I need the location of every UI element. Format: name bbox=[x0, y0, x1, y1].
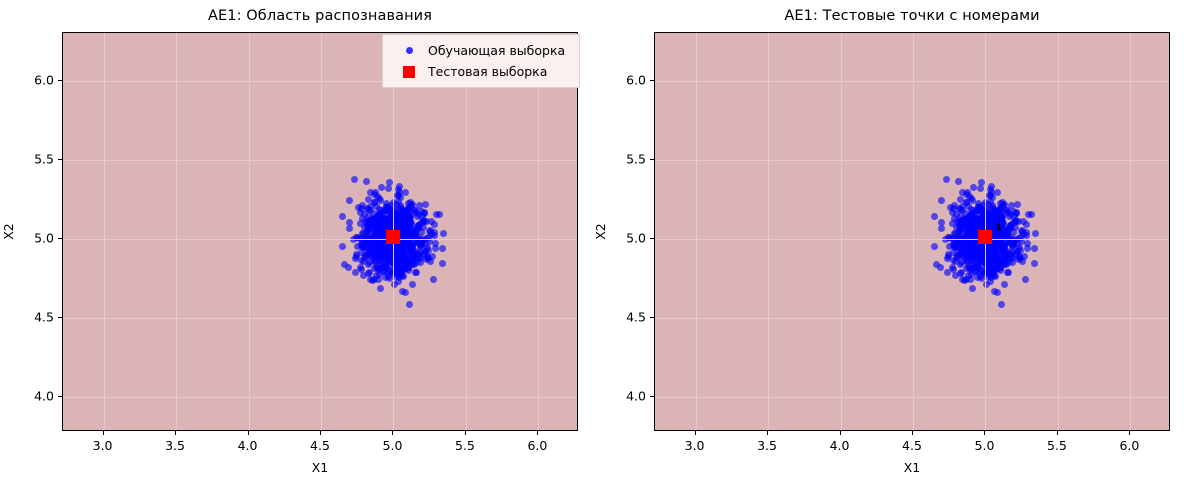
train-point bbox=[395, 192, 402, 199]
train-point bbox=[993, 265, 1000, 272]
train-point bbox=[380, 231, 387, 238]
train-point bbox=[374, 253, 381, 260]
train-point bbox=[376, 231, 383, 238]
train-point bbox=[988, 216, 995, 223]
train-point bbox=[995, 214, 1002, 221]
train-point bbox=[969, 265, 976, 272]
train-point bbox=[422, 248, 429, 255]
train-point bbox=[389, 224, 396, 231]
train-point bbox=[399, 261, 406, 268]
train-point bbox=[931, 243, 938, 250]
train-point bbox=[990, 270, 997, 277]
train-point bbox=[423, 256, 430, 263]
train-point bbox=[1006, 255, 1013, 262]
train-point bbox=[353, 251, 360, 258]
train-point bbox=[384, 250, 391, 257]
train-point bbox=[397, 254, 404, 261]
train-point bbox=[978, 231, 985, 238]
train-point bbox=[394, 213, 401, 220]
train-point bbox=[981, 222, 988, 229]
train-point bbox=[378, 253, 385, 260]
train-point bbox=[1017, 255, 1024, 262]
train-point bbox=[402, 225, 409, 232]
train-point bbox=[963, 265, 970, 272]
train-point bbox=[398, 232, 405, 239]
train-point bbox=[997, 257, 1004, 264]
train-point bbox=[981, 217, 988, 224]
train-point bbox=[359, 243, 366, 250]
train-point bbox=[401, 208, 408, 215]
train-point bbox=[957, 242, 964, 249]
train-point bbox=[383, 203, 390, 210]
train-point bbox=[427, 227, 434, 234]
train-point bbox=[404, 207, 411, 214]
train-point bbox=[956, 205, 963, 212]
train-point bbox=[396, 274, 403, 281]
train-point bbox=[395, 223, 402, 230]
train-point bbox=[378, 231, 385, 238]
train-point bbox=[986, 250, 993, 257]
train-point bbox=[384, 254, 391, 261]
panel-right-xaxis-label: X1 bbox=[654, 460, 1170, 475]
train-point bbox=[389, 225, 396, 232]
train-point bbox=[997, 229, 1004, 236]
train-point bbox=[966, 253, 973, 260]
train-point bbox=[1031, 245, 1038, 252]
train-point bbox=[994, 231, 1001, 238]
gridline-horizontal bbox=[655, 160, 1169, 161]
train-point bbox=[417, 243, 424, 250]
train-point bbox=[380, 220, 387, 227]
train-point bbox=[977, 204, 984, 211]
train-point bbox=[1032, 230, 1039, 237]
train-point bbox=[973, 231, 980, 238]
train-point bbox=[970, 219, 977, 226]
train-point bbox=[990, 232, 997, 239]
train-point bbox=[408, 249, 415, 256]
train-point bbox=[399, 247, 406, 254]
train-point bbox=[1002, 254, 1009, 261]
train-point bbox=[969, 223, 976, 230]
train-point bbox=[997, 223, 1004, 230]
train-point bbox=[418, 240, 425, 247]
train-point bbox=[964, 221, 971, 228]
train-point bbox=[1007, 234, 1014, 241]
train-point bbox=[968, 246, 975, 253]
train-point bbox=[394, 265, 401, 272]
train-point bbox=[399, 219, 406, 226]
train-point bbox=[371, 276, 378, 283]
train-point bbox=[978, 263, 985, 270]
train-point bbox=[401, 266, 408, 273]
train-point bbox=[366, 226, 373, 233]
train-point bbox=[411, 226, 418, 233]
train-point bbox=[1006, 213, 1013, 220]
train-point bbox=[403, 224, 410, 231]
train-point bbox=[975, 248, 982, 255]
train-point bbox=[992, 252, 999, 259]
train-point bbox=[394, 260, 401, 267]
train-point bbox=[997, 267, 1004, 274]
train-point bbox=[1014, 241, 1021, 248]
train-point bbox=[974, 228, 981, 235]
train-point bbox=[401, 230, 408, 237]
train-point bbox=[406, 203, 413, 210]
train-point bbox=[957, 196, 964, 203]
train-point bbox=[974, 230, 981, 237]
train-point bbox=[346, 219, 353, 226]
train-point bbox=[977, 224, 984, 231]
y-tick-label: 4.5 bbox=[604, 310, 646, 325]
train-point bbox=[412, 248, 419, 255]
train-point bbox=[372, 227, 379, 234]
train-point bbox=[987, 264, 994, 271]
train-point bbox=[418, 219, 425, 226]
train-point bbox=[981, 269, 988, 276]
train-point bbox=[385, 248, 392, 255]
train-point bbox=[394, 240, 401, 247]
train-point bbox=[380, 232, 387, 239]
train-point bbox=[428, 231, 435, 238]
train-point bbox=[976, 207, 983, 214]
train-point bbox=[974, 221, 981, 228]
train-point bbox=[971, 227, 978, 234]
train-point bbox=[397, 215, 404, 222]
panel-left-plot-area bbox=[62, 32, 578, 431]
train-point bbox=[981, 227, 988, 234]
train-point bbox=[976, 221, 983, 228]
train-point bbox=[366, 248, 373, 255]
train-point bbox=[396, 272, 403, 279]
train-point bbox=[991, 261, 998, 268]
train-point bbox=[394, 230, 401, 237]
train-point bbox=[989, 194, 996, 201]
train-point bbox=[988, 189, 995, 196]
train-point bbox=[968, 271, 975, 278]
panel-left-yaxis-label: X2 bbox=[1, 223, 16, 240]
legend-item-test: Тестовая выборка bbox=[390, 61, 570, 82]
train-point bbox=[978, 248, 985, 255]
train-point bbox=[389, 250, 396, 257]
train-point bbox=[1003, 231, 1010, 238]
train-point bbox=[938, 225, 945, 232]
train-point bbox=[963, 219, 970, 226]
train-point bbox=[964, 221, 971, 228]
train-point bbox=[974, 226, 981, 233]
train-point bbox=[373, 226, 380, 233]
train-point bbox=[378, 241, 385, 248]
train-point bbox=[427, 258, 434, 265]
train-point bbox=[425, 247, 432, 254]
train-point bbox=[998, 224, 1005, 231]
train-point bbox=[973, 223, 980, 230]
train-point bbox=[406, 231, 413, 238]
train-point bbox=[1016, 244, 1023, 251]
train-point bbox=[369, 216, 376, 223]
train-point bbox=[974, 263, 981, 270]
train-point bbox=[376, 218, 383, 225]
train-point bbox=[968, 246, 975, 253]
train-point bbox=[420, 224, 427, 231]
train-point bbox=[403, 247, 410, 254]
train-point bbox=[1008, 224, 1015, 231]
train-point bbox=[997, 258, 1004, 265]
train-point bbox=[1024, 245, 1031, 252]
train-point bbox=[963, 222, 970, 229]
train-point bbox=[990, 246, 997, 253]
train-point bbox=[1025, 211, 1032, 218]
train-point bbox=[990, 259, 997, 266]
train-point bbox=[986, 260, 993, 267]
train-point bbox=[966, 244, 973, 251]
train-point bbox=[395, 237, 402, 244]
train-point bbox=[395, 278, 402, 285]
train-point bbox=[383, 230, 390, 237]
train-point bbox=[383, 220, 390, 227]
train-point bbox=[381, 243, 388, 250]
train-point bbox=[983, 258, 990, 265]
train-point bbox=[409, 248, 416, 255]
train-point bbox=[981, 215, 988, 222]
train-point bbox=[978, 232, 985, 239]
gridline-vertical bbox=[466, 33, 467, 430]
x-tick-mark bbox=[1129, 431, 1130, 435]
train-point bbox=[966, 227, 973, 234]
train-point bbox=[967, 266, 974, 273]
train-point bbox=[970, 210, 977, 217]
train-point bbox=[989, 254, 996, 261]
train-point bbox=[954, 237, 961, 244]
train-point bbox=[384, 247, 391, 254]
train-point bbox=[958, 259, 965, 266]
train-point bbox=[377, 222, 384, 229]
train-point bbox=[365, 213, 372, 220]
train-point bbox=[999, 245, 1006, 252]
train-point bbox=[395, 220, 402, 227]
train-point bbox=[425, 255, 432, 262]
train-point bbox=[403, 224, 410, 231]
train-point bbox=[968, 218, 975, 225]
train-point bbox=[991, 240, 998, 247]
train-point bbox=[373, 203, 380, 210]
train-point bbox=[385, 231, 392, 238]
train-point bbox=[396, 250, 403, 257]
x-tick-mark bbox=[984, 431, 985, 435]
train-point bbox=[977, 241, 984, 248]
train-point bbox=[976, 228, 983, 235]
train-point bbox=[404, 265, 411, 272]
train-point bbox=[363, 178, 370, 185]
train-point bbox=[389, 230, 396, 237]
train-point bbox=[971, 264, 978, 271]
train-point bbox=[1001, 248, 1008, 255]
train-point bbox=[1006, 252, 1013, 259]
train-point bbox=[975, 222, 982, 229]
train-point bbox=[378, 252, 385, 259]
train-point bbox=[961, 243, 968, 250]
train-point bbox=[946, 243, 953, 250]
train-point bbox=[378, 221, 385, 228]
train-point bbox=[1023, 229, 1030, 236]
train-point bbox=[383, 226, 390, 233]
train-point bbox=[952, 272, 959, 279]
train-point bbox=[415, 222, 422, 229]
x-tick-mark bbox=[537, 431, 538, 435]
train-point bbox=[404, 228, 411, 235]
train-point bbox=[1004, 231, 1011, 238]
train-point bbox=[1000, 246, 1007, 253]
train-point bbox=[370, 215, 377, 222]
train-point bbox=[420, 250, 427, 257]
train-point bbox=[370, 210, 377, 217]
train-point bbox=[1000, 245, 1007, 252]
train-point bbox=[401, 214, 408, 221]
train-point bbox=[376, 245, 383, 252]
panel-right-yaxis-label: X2 bbox=[593, 223, 608, 240]
train-point bbox=[963, 199, 970, 206]
train-point bbox=[377, 265, 384, 272]
train-point bbox=[369, 243, 376, 250]
train-point bbox=[406, 224, 413, 231]
train-point bbox=[399, 272, 406, 279]
train-point bbox=[978, 246, 985, 253]
train-point bbox=[363, 244, 370, 251]
train-point bbox=[377, 219, 384, 226]
train-point bbox=[970, 231, 977, 238]
train-point bbox=[951, 215, 958, 222]
train-point bbox=[402, 251, 409, 258]
train-point bbox=[406, 264, 413, 271]
train-point bbox=[371, 191, 378, 198]
train-point bbox=[981, 270, 988, 277]
train-point bbox=[958, 246, 965, 253]
train-point bbox=[396, 231, 403, 238]
train-point bbox=[975, 229, 982, 236]
train-point bbox=[957, 261, 964, 268]
train-point bbox=[975, 219, 982, 226]
train-point bbox=[976, 246, 983, 253]
train-point bbox=[990, 253, 997, 260]
train-point bbox=[972, 220, 979, 227]
train-point bbox=[958, 269, 965, 276]
train-point bbox=[988, 254, 995, 261]
train-point bbox=[394, 240, 401, 247]
train-point bbox=[401, 264, 408, 271]
train-point bbox=[974, 222, 981, 229]
train-point bbox=[1001, 252, 1008, 259]
train-point bbox=[974, 274, 981, 281]
train-point bbox=[995, 224, 1002, 231]
train-point bbox=[963, 249, 970, 256]
y-tick-label: 6.0 bbox=[604, 72, 646, 87]
train-point bbox=[365, 217, 372, 224]
train-point bbox=[975, 265, 982, 272]
train-point bbox=[971, 251, 978, 258]
train-point bbox=[379, 264, 386, 271]
train-point bbox=[409, 252, 416, 259]
y-tick-mark bbox=[650, 159, 654, 160]
train-point bbox=[382, 221, 389, 228]
train-point bbox=[416, 202, 423, 209]
train-point bbox=[403, 211, 410, 218]
train-point bbox=[1000, 202, 1007, 209]
train-point bbox=[1003, 230, 1010, 237]
train-point bbox=[960, 245, 967, 252]
train-point bbox=[403, 228, 410, 235]
train-point bbox=[981, 250, 988, 257]
train-point bbox=[377, 225, 384, 232]
train-point bbox=[995, 259, 1002, 266]
train-point bbox=[961, 223, 968, 230]
train-point bbox=[424, 244, 431, 251]
train-point bbox=[396, 213, 403, 220]
train-point bbox=[394, 261, 401, 268]
train-point bbox=[398, 229, 405, 236]
train-point bbox=[978, 267, 985, 274]
train-point bbox=[995, 247, 1002, 254]
x-tick-label: 3.0 bbox=[93, 438, 113, 453]
train-point bbox=[371, 249, 378, 256]
train-point bbox=[1001, 281, 1008, 288]
train-point bbox=[988, 255, 995, 262]
train-point bbox=[998, 230, 1005, 237]
train-point bbox=[379, 225, 386, 232]
train-point bbox=[406, 230, 413, 237]
train-point bbox=[365, 270, 372, 277]
train-point bbox=[382, 228, 389, 235]
train-point bbox=[358, 242, 365, 249]
train-point bbox=[969, 248, 976, 255]
train-point bbox=[364, 229, 371, 236]
y-tick-mark bbox=[58, 396, 62, 397]
train-point bbox=[950, 205, 957, 212]
train-point bbox=[386, 205, 393, 212]
train-point bbox=[400, 234, 407, 241]
train-point bbox=[381, 244, 388, 251]
train-point bbox=[406, 217, 413, 224]
train-point bbox=[972, 232, 979, 239]
train-point bbox=[987, 192, 994, 199]
y-tick-label: 6.0 bbox=[12, 72, 54, 87]
train-point bbox=[931, 213, 938, 220]
train-point bbox=[415, 222, 422, 229]
train-point bbox=[971, 218, 978, 225]
train-point bbox=[414, 213, 421, 220]
train-point bbox=[368, 252, 375, 259]
train-point bbox=[987, 186, 994, 193]
train-point bbox=[406, 219, 413, 226]
train-point bbox=[978, 219, 985, 226]
x-tick-label: 5.0 bbox=[383, 438, 403, 453]
gridline-vertical bbox=[393, 33, 394, 430]
train-point bbox=[997, 223, 1004, 230]
train-point bbox=[386, 254, 393, 261]
train-point bbox=[385, 225, 392, 232]
train-point bbox=[394, 213, 401, 220]
train-point bbox=[975, 200, 982, 207]
x-tick-mark bbox=[175, 431, 176, 435]
train-point bbox=[341, 261, 348, 268]
train-point bbox=[998, 301, 1005, 308]
train-point bbox=[989, 204, 996, 211]
train-point bbox=[970, 252, 977, 259]
x-tick-label: 4.0 bbox=[238, 438, 258, 453]
train-point bbox=[979, 229, 986, 236]
train-point bbox=[976, 213, 983, 220]
train-point bbox=[964, 229, 971, 236]
train-point bbox=[376, 210, 383, 217]
train-point bbox=[397, 194, 404, 201]
